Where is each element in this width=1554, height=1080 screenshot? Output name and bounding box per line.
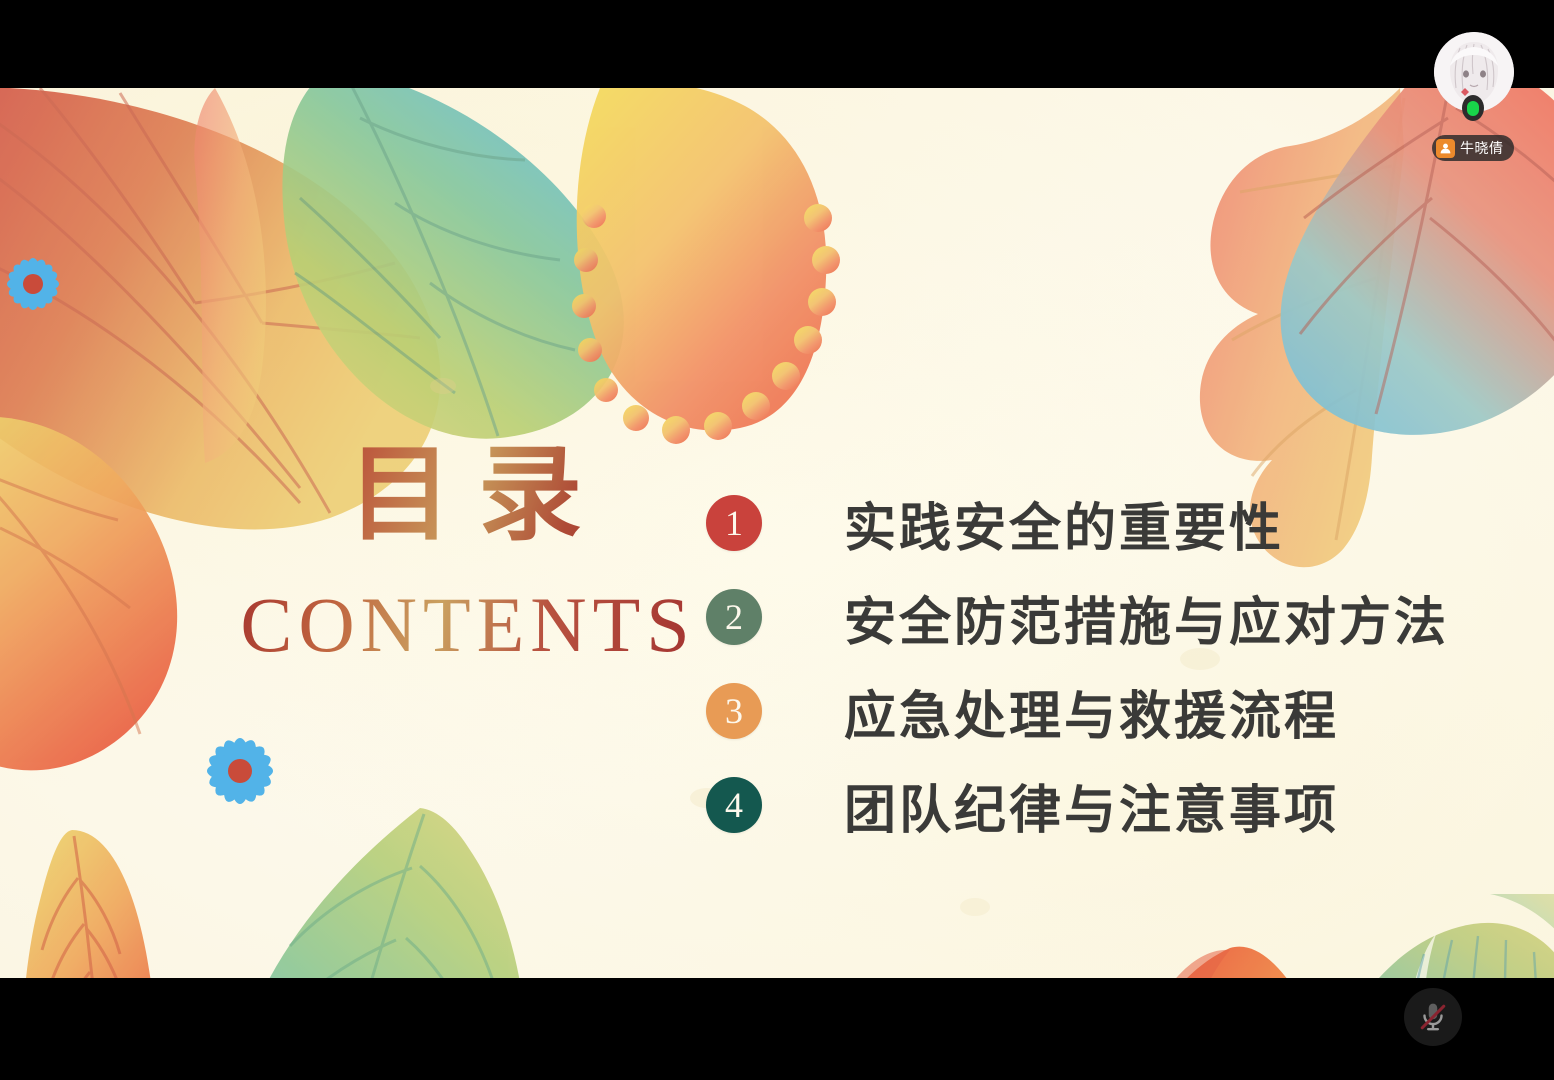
flower-bottom-left — [205, 736, 274, 805]
agenda-number-badge: 3 — [706, 683, 762, 739]
agenda-item-label: 安全防范措施与应对方法 — [844, 580, 1449, 655]
slide-title-en: CONTENTS — [232, 580, 698, 670]
paper-speck — [960, 898, 990, 916]
participant-name-chip: 牛晓倩 — [1432, 135, 1514, 161]
agenda-item-label: 团队纪律与注意事项 — [844, 768, 1339, 843]
mic-active-indicator — [1462, 95, 1484, 121]
agenda-item-4: 4 团队纪律与注意事项 — [706, 758, 1449, 852]
agenda-item-label: 应急处理与救援流程 — [844, 674, 1339, 749]
mic-mute-button[interactable] — [1404, 988, 1462, 1046]
person-glyph — [1439, 142, 1452, 155]
agenda-number-badge: 4 — [706, 777, 762, 833]
agenda-item-label: 实践安全的重要性 — [844, 486, 1284, 561]
participant-name: 牛晓倩 — [1460, 138, 1504, 158]
slide-title-block: 目录 CONTENTS — [232, 438, 698, 670]
agenda-item-1: 1 实践安全的重要性 — [706, 476, 1449, 570]
agenda-number-badge: 2 — [706, 589, 762, 645]
flower-top-left — [6, 257, 61, 312]
mic-active-pill — [1467, 101, 1479, 116]
agenda-item-3: 3 应急处理与救援流程 — [706, 664, 1449, 758]
agenda-list: 1 实践安全的重要性 2 安全防范措施与应对方法 3 应急处理与救援流程 4 团… — [706, 476, 1449, 852]
agenda-item-2: 2 安全防范措施与应对方法 — [706, 570, 1449, 664]
agenda-number-badge: 1 — [706, 495, 762, 551]
slide-title-cn: 目录 — [232, 438, 698, 554]
screen-share-viewer: 目录 CONTENTS 1 实践安全的重要性 2 安全防范措施与应对方法 3 应… — [0, 0, 1554, 1080]
mic-muted-icon — [1416, 1000, 1450, 1034]
paper-speck — [430, 378, 456, 394]
presentation-slide: 目录 CONTENTS 1 实践安全的重要性 2 安全防范措施与应对方法 3 应… — [0, 88, 1554, 978]
host-person-icon — [1436, 139, 1455, 158]
